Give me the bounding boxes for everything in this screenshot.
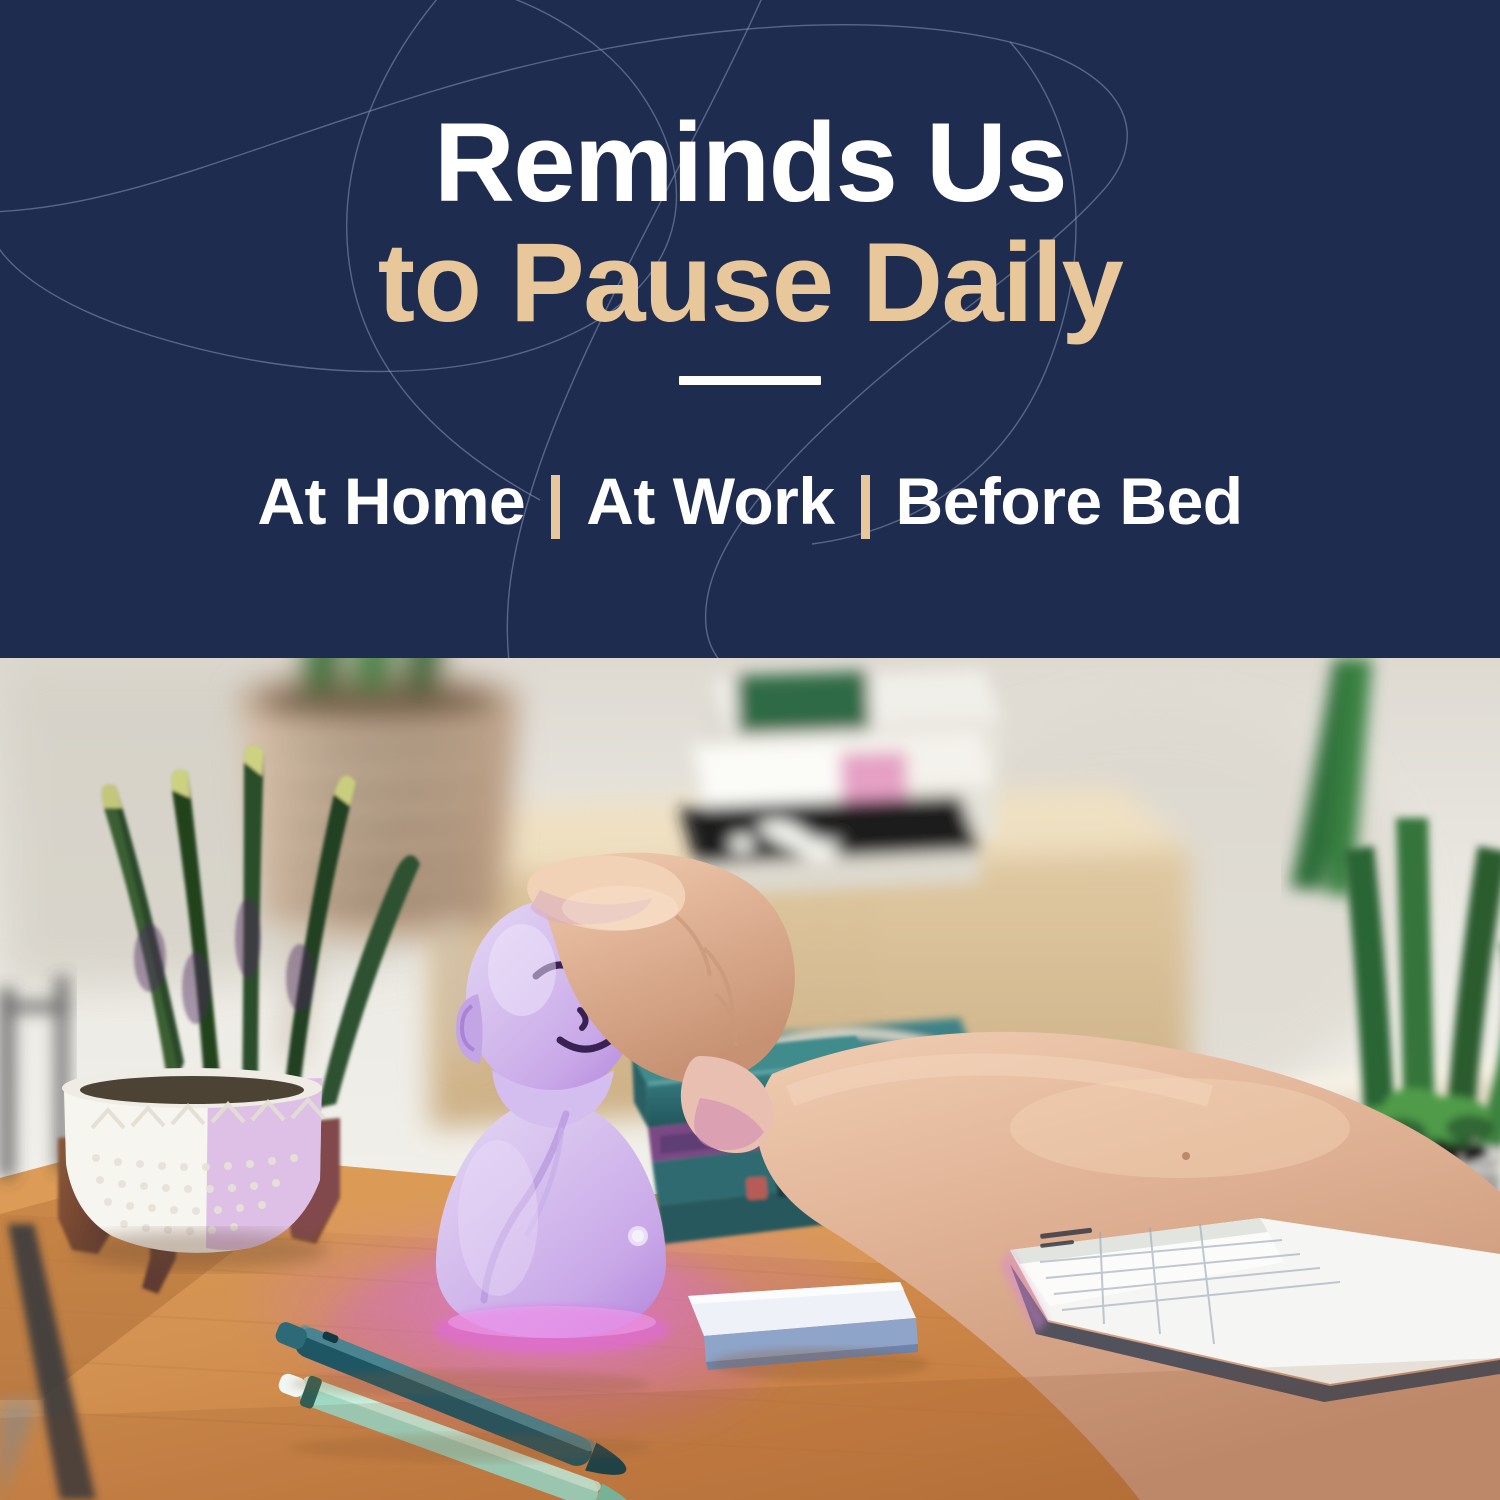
headline-line-1: Reminds Us (378, 106, 1123, 220)
header-panel: Reminds Us to Pause Daily At Home At Wor… (0, 0, 1500, 658)
usage-contexts: At Home At Work Before Bed (257, 463, 1242, 539)
lifestyle-photo (0, 658, 1500, 1500)
product-lifestyle-banner: Reminds Us to Pause Daily At Home At Wor… (0, 0, 1500, 1500)
photo-scene (0, 658, 1500, 1500)
page-title: Reminds Us to Pause Daily (378, 0, 1123, 340)
headline-line-2: to Pause Daily (378, 226, 1123, 340)
context-before-bed: Before Bed (896, 463, 1243, 539)
context-at-home: At Home (257, 463, 525, 539)
title-divider (679, 376, 821, 385)
separator-bar-2 (861, 475, 870, 539)
context-at-work: At Work (586, 463, 834, 539)
separator-bar-1 (551, 475, 560, 539)
